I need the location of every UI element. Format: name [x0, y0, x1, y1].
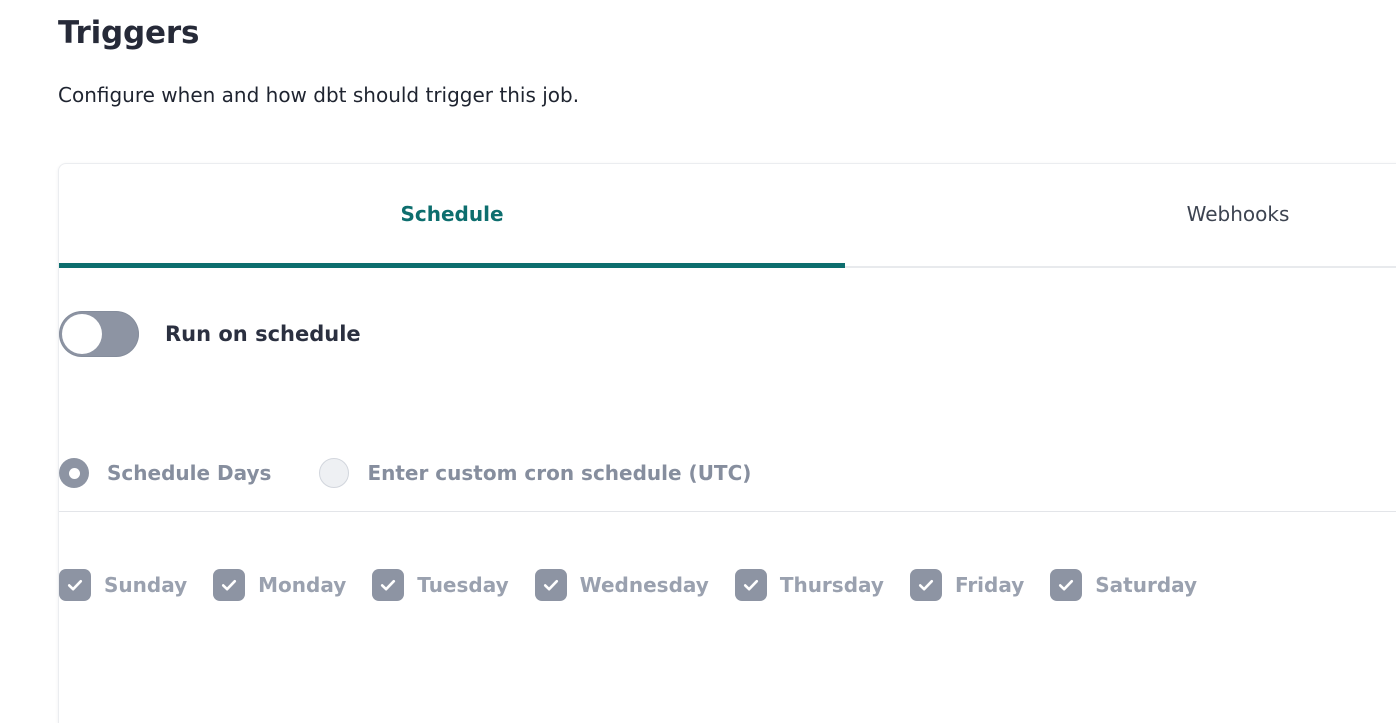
radio-option-custom-cron-label: Enter custom cron schedule (UTC) — [367, 461, 751, 485]
radio-option-schedule-days[interactable]: Schedule Days — [59, 458, 271, 488]
day-label-thursday: Thursday — [780, 573, 884, 597]
run-on-schedule-toggle[interactable] — [59, 311, 139, 357]
day-checkbox-thursday[interactable]: Thursday — [735, 569, 884, 601]
section-divider — [59, 511, 1396, 512]
day-label-wednesday: Wednesday — [580, 573, 709, 597]
day-checkbox-wednesday[interactable]: Wednesday — [535, 569, 709, 601]
check-icon[interactable] — [535, 569, 567, 601]
toggle-knob-icon — [62, 314, 102, 354]
check-icon[interactable] — [1050, 569, 1082, 601]
day-checkbox-sunday[interactable]: Sunday — [59, 569, 187, 601]
schedule-days-list: Sunday Monday Tuesday — [59, 569, 1197, 601]
radio-option-schedule-days-label: Schedule Days — [107, 461, 271, 485]
check-icon[interactable] — [372, 569, 404, 601]
day-label-saturday: Saturday — [1095, 573, 1197, 597]
check-icon[interactable] — [735, 569, 767, 601]
tab-schedule[interactable]: Schedule — [59, 164, 845, 266]
day-label-tuesday: Tuesday — [417, 573, 508, 597]
radio-empty-icon[interactable] — [319, 458, 349, 488]
tab-webhooks[interactable]: Webhooks — [845, 164, 1396, 266]
schedule-type-radio-group: Schedule Days Enter custom cron schedule… — [59, 458, 751, 488]
check-icon[interactable] — [213, 569, 245, 601]
tab-webhooks-label: Webhooks — [1187, 202, 1290, 226]
day-label-monday: Monday — [258, 573, 346, 597]
tab-schedule-label: Schedule — [400, 202, 503, 226]
radio-dot-icon[interactable] — [59, 458, 89, 488]
day-checkbox-tuesday[interactable]: Tuesday — [372, 569, 508, 601]
page-subtitle: Configure when and how dbt should trigge… — [58, 80, 579, 110]
check-icon[interactable] — [910, 569, 942, 601]
tab-bar: Schedule Webhooks — [59, 164, 1396, 268]
check-icon[interactable] — [59, 569, 91, 601]
triggers-page: Triggers Configure when and how dbt shou… — [0, 0, 1396, 680]
radio-option-custom-cron[interactable]: Enter custom cron schedule (UTC) — [319, 458, 751, 488]
day-checkbox-monday[interactable]: Monday — [213, 569, 346, 601]
day-label-sunday: Sunday — [104, 573, 187, 597]
page-title: Triggers — [58, 12, 199, 54]
run-on-schedule-row: Run on schedule — [59, 311, 361, 357]
day-checkbox-friday[interactable]: Friday — [910, 569, 1024, 601]
day-checkbox-saturday[interactable]: Saturday — [1050, 569, 1197, 601]
triggers-card: Schedule Webhooks Run on schedule Schedu… — [58, 163, 1396, 723]
day-label-friday: Friday — [955, 573, 1024, 597]
run-on-schedule-label: Run on schedule — [165, 322, 361, 346]
